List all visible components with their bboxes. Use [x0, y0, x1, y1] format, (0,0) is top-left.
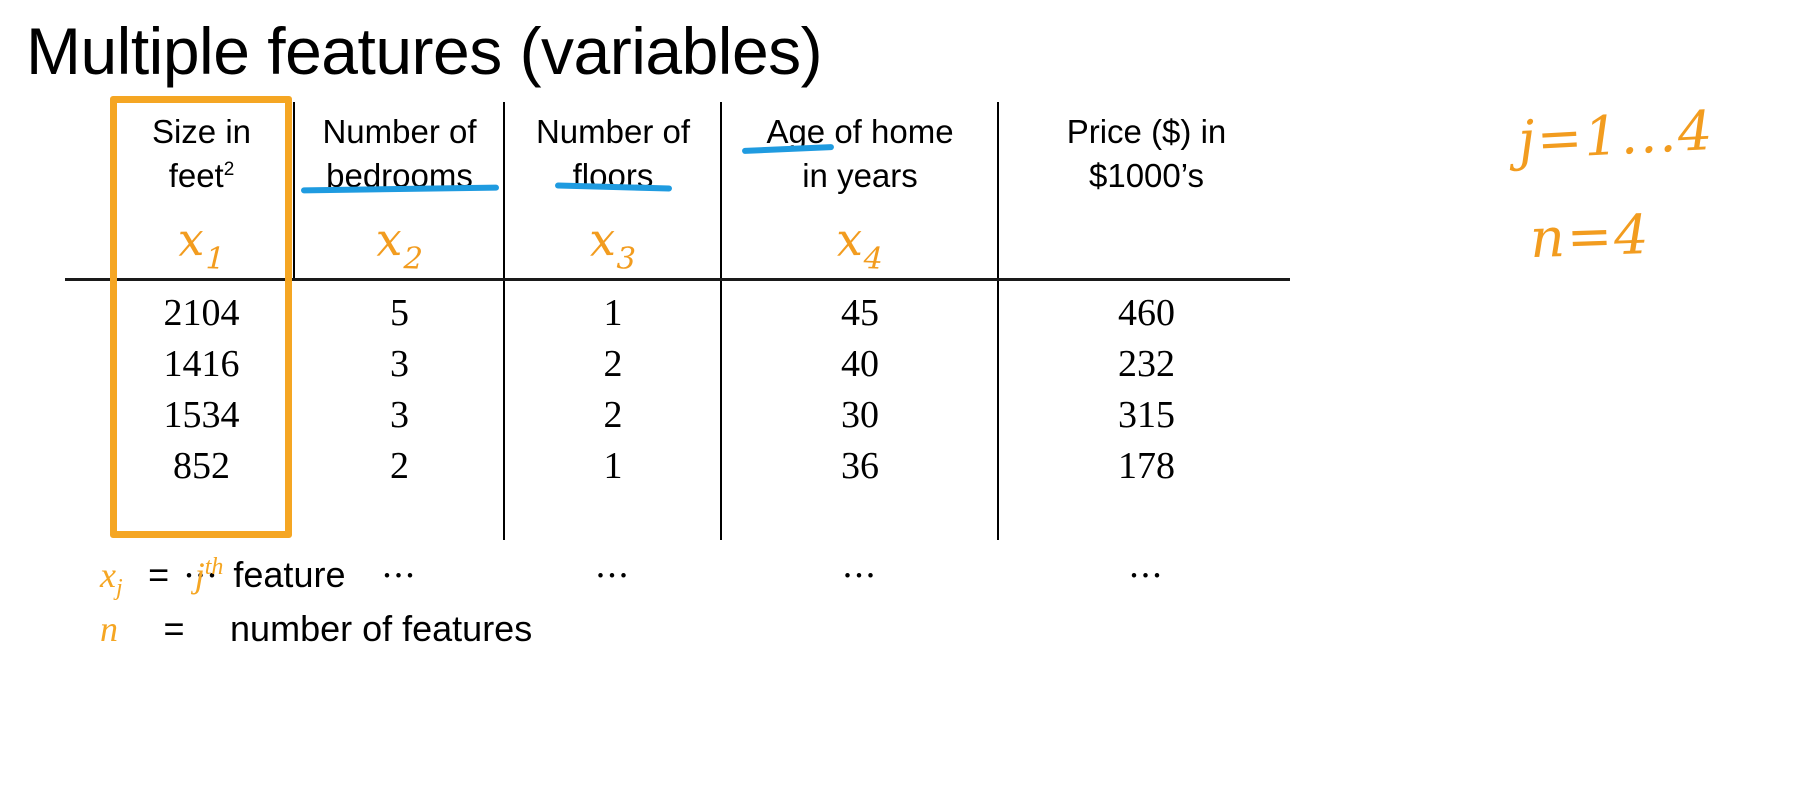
column-header-line2: in years — [725, 154, 995, 198]
slide-canvas: Multiple features (variables) Size in fe… — [0, 0, 1794, 787]
column-header-line1: Price ($) in — [1067, 113, 1227, 150]
column-divider-2 — [503, 102, 505, 540]
table-cell: 30 — [725, 390, 995, 441]
table-cell: 852 — [110, 441, 293, 492]
feature-symbol-x3: x3 — [507, 208, 719, 269]
table-column-floors: Number of floors x3 1 2 2 1 ... — [508, 100, 718, 540]
superscript-2: 2 — [224, 159, 235, 180]
column-header-line1: Number of — [536, 113, 690, 150]
table-cell: 178 — [1003, 441, 1290, 492]
table-cell: 3 — [298, 339, 501, 390]
column-header-line1: Number of — [322, 113, 476, 150]
table-cell: 5 — [298, 288, 501, 339]
legend-symbol-n: n — [100, 609, 118, 649]
table-column-price-cells: 460 232 315 178 ... — [1003, 288, 1290, 591]
legend-term-jth: jth — [195, 555, 224, 595]
column-header-bedrooms: Number of bedrooms — [298, 100, 501, 197]
annotation-n-value: n=4 — [1529, 203, 1652, 270]
column-header-line2: floors — [508, 154, 718, 198]
feature-symbol-x2: x2 — [297, 208, 502, 269]
legend-row-n: n = number of features — [100, 602, 532, 656]
annotation-j-range: j=1...4 — [1516, 99, 1715, 172]
column-header-floors: Number of floors — [508, 100, 718, 197]
features-table: Size in feet2 x1 2104 1416 1534 852 ... … — [65, 100, 1290, 540]
table-cell: 1416 — [110, 339, 293, 390]
table-cell-ellipsis: ... — [1003, 540, 1290, 591]
table-cell: 2 — [508, 339, 718, 390]
table-cell: 40 — [725, 339, 995, 390]
legend-definitions: xj = jth feature n = number of features — [100, 548, 532, 656]
feature-symbol-x4: x4 — [724, 207, 996, 270]
table-cell: 2104 — [110, 288, 293, 339]
table-cell: 3 — [298, 390, 501, 441]
column-header-line2: feet2 — [110, 154, 293, 198]
column-header-line1: Age of home — [766, 113, 953, 150]
column-header-age: Age of home in years — [725, 100, 995, 197]
page-title: Multiple features (variables) — [26, 18, 822, 84]
legend-term-text: number of features — [230, 608, 532, 649]
legend-row-xj: xj = jth feature — [100, 548, 532, 602]
table-cell: 315 — [1003, 390, 1290, 441]
table-cell: 1 — [508, 441, 718, 492]
table-cell: 2 — [298, 441, 501, 492]
table-column-size-cells: 2104 1416 1534 852 ... — [110, 288, 293, 591]
legend-symbol-xj: xj — [100, 555, 123, 595]
table-column-bedrooms: Number of bedrooms x2 5 3 3 2 ... — [298, 100, 501, 540]
column-header-line1: Size in — [152, 113, 251, 150]
table-column-age-cells: 45 40 30 36 ... — [725, 288, 995, 591]
blue-underline-age — [742, 144, 834, 154]
table-column-price: Price ($) in $1000’s 460 232 315 178 ... — [1003, 100, 1290, 540]
legend-equals: = — [133, 548, 185, 602]
table-cell-ellipsis: ... — [508, 540, 718, 591]
table-cell: 36 — [725, 441, 995, 492]
table-column-floors-cells: 1 2 2 1 ... — [508, 288, 718, 591]
feature-symbol-x1: x1 — [109, 209, 294, 269]
column-header-size: Size in feet2 — [110, 100, 293, 197]
column-divider-4 — [997, 102, 999, 540]
table-column-age: Age of home in years x4 45 40 30 36 ... — [725, 100, 995, 540]
table-column-bedrooms-cells: 5 3 3 2 ... — [298, 288, 501, 591]
column-header-line2: $1000’s — [1003, 154, 1290, 198]
legend-term-text: feature — [233, 554, 345, 595]
table-cell: 1 — [508, 288, 718, 339]
table-cell: 460 — [1003, 288, 1290, 339]
column-header-price: Price ($) in $1000’s — [1003, 100, 1290, 197]
table-column-size: Size in feet2 x1 2104 1416 1534 852 ... — [110, 100, 293, 540]
table-cell: 232 — [1003, 339, 1290, 390]
table-cell-ellipsis: ... — [725, 540, 995, 591]
table-cell: 1534 — [110, 390, 293, 441]
column-divider-3 — [720, 102, 722, 540]
table-cell: 2 — [508, 390, 718, 441]
table-cell: 45 — [725, 288, 995, 339]
legend-equals: = — [128, 602, 220, 656]
